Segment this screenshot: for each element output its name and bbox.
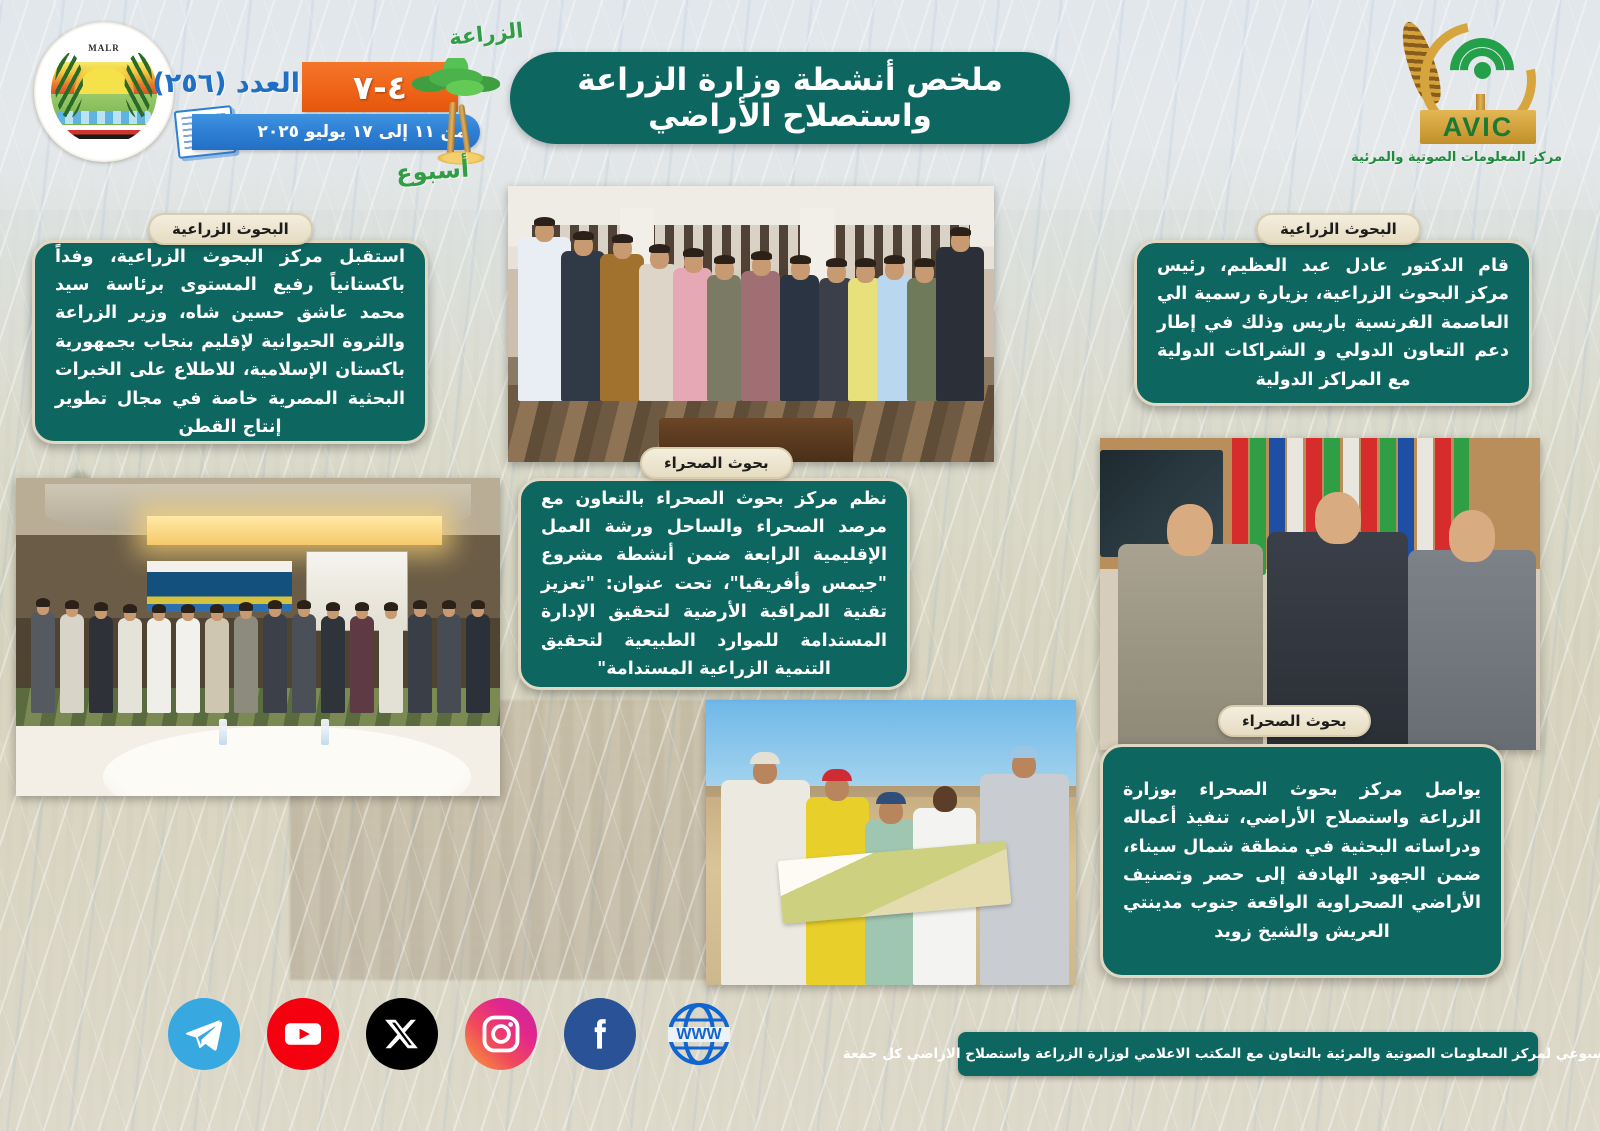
wheat-wreath-right-icon [125, 53, 153, 119]
person [466, 614, 490, 713]
avic-subtitle: مركز المعلومات الصوتية والمرئية [1394, 150, 1562, 165]
person [118, 618, 142, 713]
person [31, 612, 55, 714]
youtube-icon[interactable] [267, 998, 339, 1070]
website-icon[interactable]: WWW [663, 998, 735, 1070]
photo-delegation-group [508, 186, 994, 462]
person [263, 614, 287, 713]
photo-workshop-chandelier [147, 516, 442, 545]
badge-desert-research-right: بحوث الصحراء [1218, 705, 1371, 737]
footer-publication-note: اصدار اسبوعي لمركز المعلومات الصوتية وال… [958, 1032, 1538, 1076]
person [600, 254, 644, 401]
person [147, 618, 171, 713]
card-agricultural-research-right: قام الدكتور عادل عبد العظيم، رئيس مركز ا… [1134, 240, 1532, 406]
person [437, 614, 461, 713]
person [205, 618, 229, 713]
palm-logo-word-bottom: أسبوع [395, 154, 470, 187]
person [561, 251, 605, 402]
person [707, 275, 741, 402]
issue-number: العدد (٢٥٦) [152, 68, 300, 99]
photo-desert-field-survey [706, 700, 1076, 985]
person [379, 616, 403, 713]
card-desert-research-middle: نظم مركز بحوث الصحراء بالتعاون مع مرصد ا… [518, 478, 910, 690]
malr-flag-band [51, 125, 157, 139]
person [176, 618, 200, 713]
card-text: يواصل مركز بحوث الصحراء بوزارة الزراعة و… [1103, 762, 1501, 960]
facebook-icon[interactable] [564, 998, 636, 1070]
person [1408, 550, 1536, 750]
instagram-icon[interactable] [465, 998, 537, 1070]
person [234, 616, 258, 713]
person [741, 271, 780, 401]
page-title: ملخص أنشطة وزارة الزراعة واستصلاح الأراض… [510, 52, 1070, 144]
malr-acronym: MALR [51, 43, 157, 53]
x-twitter-icon[interactable] [366, 998, 438, 1070]
person [292, 614, 316, 713]
person [321, 616, 345, 713]
social-links-row: WWW [168, 998, 735, 1070]
badge-agricultural-research-right: البحوث الزراعية [1256, 213, 1421, 245]
person [350, 616, 374, 713]
card-text: استقبل مركز البحوث الزراعية، وفداً باكست… [35, 229, 425, 455]
photo-delegation-people [508, 230, 994, 401]
photo-paris-officials [1100, 438, 1540, 750]
palm-tree-icon [408, 58, 504, 168]
person [89, 616, 113, 713]
malr-logo-inner: MALR [51, 39, 157, 145]
person [780, 275, 819, 402]
photo-workshop-people [16, 605, 500, 713]
card-text: نظم مركز بحوث الصحراء بالتعاون مع مرصد ا… [521, 471, 907, 697]
card-text: قام الدكتور عادل عبد العظيم، رئيس مركز ا… [1137, 238, 1529, 408]
badge-desert-research-middle: بحوث الصحراء [640, 447, 793, 479]
photo-regional-workshop [16, 478, 500, 796]
telegram-icon[interactable] [168, 998, 240, 1070]
photo-workshop-bottle-1 [219, 719, 227, 745]
person [936, 247, 985, 401]
avic-acronym: AVIC [1443, 112, 1514, 143]
palm-crown-secondary [434, 72, 496, 112]
agriculture-week-logo: الزراعة أسبوع [390, 18, 520, 183]
palm-logo-word-top: الزراعة [448, 18, 525, 50]
card-desert-research-right: يواصل مركز بحوث الصحراء بوزارة الزراعة و… [1100, 744, 1504, 978]
avic-logo: AVIC مركز المعلومات الصوتية والمرئية [1394, 8, 1562, 178]
badge-agricultural-research-left: البحوث الزراعية [148, 213, 313, 245]
svg-text:WWW: WWW [676, 1026, 722, 1043]
newsletter-page: MALR العدد (٢٥٦) ٤-٧ من ١١ إلى ١٧ يوليو … [0, 0, 1600, 1131]
card-agricultural-research-left: استقبل مركز البحوث الزراعية، وفداً باكست… [32, 240, 428, 444]
broadcast-center-dot-icon [1474, 62, 1491, 79]
photo-workshop-bottle-2 [321, 719, 329, 745]
person [408, 614, 432, 713]
wheat-wreath-left-icon [55, 53, 83, 119]
person [60, 614, 84, 713]
avic-acronym-box: AVIC [1420, 110, 1536, 144]
